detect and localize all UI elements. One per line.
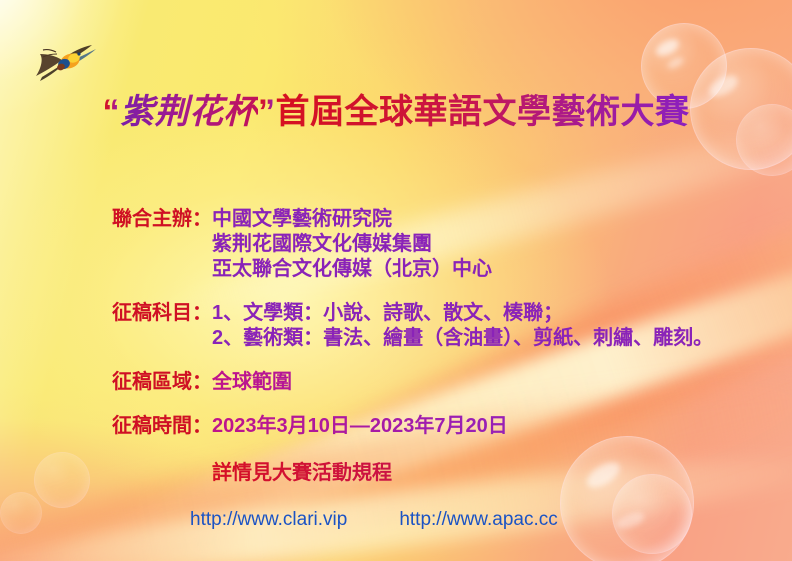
detail-value: 紫荆花國際文化傳媒集團 [212,232,772,257]
detail-label: 征稿科目： [112,301,212,326]
detail-values: 2023年3月10日—2023年7月20日 [212,414,772,439]
poster-canvas: “紫荆花杯”首屆全球華語文學藝術大賽 聯合主辦： 中國文學藝術研究院 紫荆花國際… [0,0,792,561]
details-block: 聯合主辦： 中國文學藝術研究院 紫荆花國際文化傳媒集團 亞太聯合文化傳媒（北京）… [112,207,772,486]
website-link-apac[interactable]: http://www.apac.cc [399,509,557,531]
title-quote-open: “ [103,93,121,131]
details-note: 詳情見大賽活動規程 [212,461,772,486]
bubble-icon [34,452,90,508]
detail-row-organizers: 聯合主辦： 中國文學藝術研究院 紫荆花國際文化傳媒集團 亞太聯合文化傳媒（北京）… [112,207,772,282]
detail-value: 1、文學類：小說、詩歌、散文、楱聯； [212,301,772,326]
detail-value: 全球範圍 [212,370,772,395]
detail-value: 2、藝術類：書法、繪畫（含油畫）、剪紙、刺繡、雕刻。 [212,326,772,351]
title-main-text: 首屆全球華語文學藝術大賽 [276,93,690,131]
title-quote-close: ” [258,93,276,131]
detail-values: 全球範圍 [212,370,772,395]
butterfly-icon [30,36,108,86]
detail-label: 征稿時間： [112,414,212,439]
bubble-icon [0,492,42,534]
detail-values: 1、文學類：小說、詩歌、散文、楱聯； 2、藝術類：書法、繪畫（含油畫）、剪紙、刺… [212,301,772,351]
title-script-text: 紫荆花杯 [120,92,258,132]
detail-label: 聯合主辦： [112,207,212,232]
detail-row-period: 征稿時間： 2023年3月10日—2023年7月20日 [112,414,772,439]
website-link-clari[interactable]: http://www.clari.vip [190,509,347,531]
detail-value: 亞太聯合文化傳媒（北京）中心 [212,257,772,282]
detail-value: 2023年3月10日—2023年7月20日 [212,414,772,439]
detail-row-categories: 征稿科目： 1、文學類：小說、詩歌、散文、楱聯； 2、藝術類：書法、繪畫（含油畫… [112,301,772,351]
detail-values: 中國文學藝術研究院 紫荆花國際文化傳媒集團 亞太聯合文化傳媒（北京）中心 [212,207,772,282]
page-title: “紫荆花杯”首屆全球華語文學藝術大賽 [0,95,792,129]
detail-row-region: 征稿區域： 全球範圍 [112,370,772,395]
bubble-icon [612,474,692,554]
detail-label: 征稿區域： [112,370,212,395]
footer-links: http://www.clari.vip http://www.apac.cc [190,509,558,531]
detail-value: 中國文學藝術研究院 [212,207,772,232]
